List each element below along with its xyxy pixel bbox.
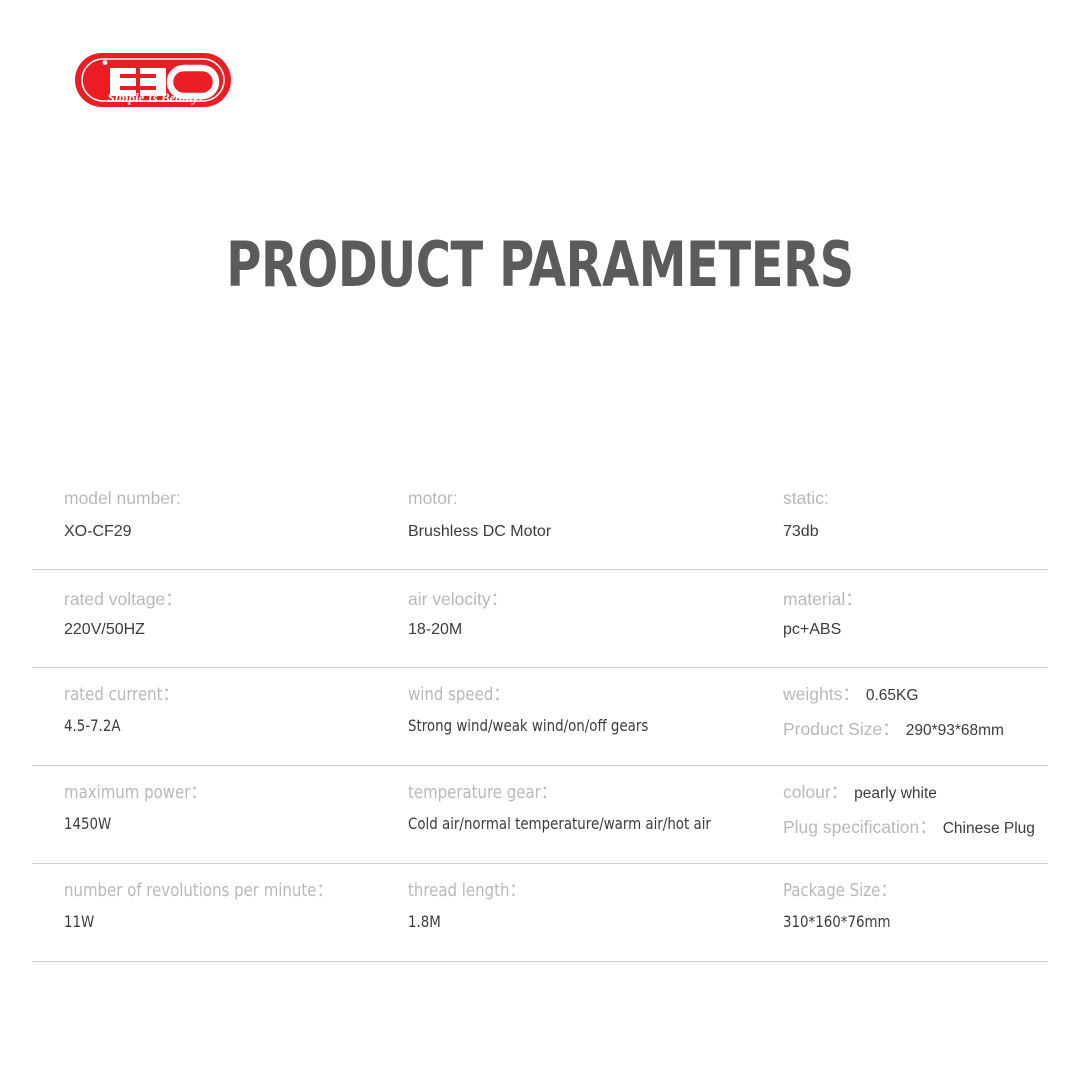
spec-pair-colour: colour：pearly white	[783, 779, 937, 804]
table-row: model number: XO-CF29 motor: Brushless D…	[32, 472, 1048, 570]
table-row: rated current： 4.5-7.2A wind speed： Stro…	[32, 668, 1048, 766]
spec-value: XO-CF29	[64, 523, 132, 541]
spec-cell-rated-current: rated current： 4.5-7.2A	[64, 668, 408, 766]
product-parameters-table: model number: XO-CF29 motor: Brushless D…	[32, 472, 1048, 962]
spec-value: 220V/50HZ	[64, 621, 145, 639]
spec-value: 290*93*68mm	[906, 722, 1004, 739]
spec-label: material：	[783, 586, 863, 611]
spec-cell-model-number: model number: XO-CF29	[64, 472, 408, 570]
spec-cell-colour-plug-specification: colour：pearly white Plug specification：C…	[783, 766, 1048, 864]
spec-label: Package Size：	[783, 877, 897, 902]
spec-cell-rated-voltage: rated voltage： 220V/50HZ	[64, 570, 408, 668]
brand-logo: Simple Is Beauty	[74, 52, 232, 108]
spec-cell-package-size: Package Size： 310*160*76mm	[783, 864, 1048, 962]
page-title: PRODUCT PARAMETERS	[76, 228, 1005, 301]
spec-cell-temperature-gear: temperature gear： Cold air/normal temper…	[408, 766, 783, 864]
spec-value: Cold air/normal temperature/warm air/hot…	[408, 814, 711, 833]
spec-label: Product Size：	[783, 719, 900, 739]
spec-label: motor:	[408, 488, 458, 509]
spec-label: model number:	[64, 488, 181, 509]
spec-value: Brushless DC Motor	[408, 523, 551, 541]
spec-value: 310*160*76mm	[783, 912, 891, 931]
spec-label: temperature gear：	[408, 779, 557, 804]
spec-pair-weights: weights：0.65KG	[783, 681, 918, 706]
spec-cell-wind-speed: wind speed： Strong wind/weak wind/on/off…	[408, 668, 783, 766]
spec-value: pearly white	[854, 785, 937, 802]
spec-label: weights：	[783, 684, 860, 704]
spec-cell-material: material： pc+ABS	[783, 570, 1048, 668]
spec-value: 0.65KG	[866, 687, 919, 704]
spec-label: rated voltage：	[64, 586, 183, 611]
spec-label: number of revolutions per minute：	[64, 877, 333, 902]
spec-label: static:	[783, 488, 829, 509]
spec-cell-air-velocity: air velocity： 18-20M	[408, 570, 783, 668]
spec-value: 1.8M	[408, 912, 441, 931]
spec-cell-revolutions-per-minute: number of revolutions per minute： 11W	[64, 864, 408, 962]
xo-logo-icon: Simple Is Beauty	[74, 52, 232, 108]
spec-label: thread length：	[408, 877, 526, 902]
spec-pair-product-size: Product Size：290*93*68mm	[783, 716, 1004, 741]
spec-label: colour：	[783, 782, 848, 802]
spec-value: 18-20M	[408, 621, 462, 639]
spec-value: 1450W	[64, 814, 111, 833]
spec-value: 73db	[783, 523, 819, 541]
spec-pair-plug-specification: Plug specification：Chinese Plug	[783, 814, 1035, 839]
logo-tagline: Simple Is Beauty	[107, 90, 198, 105]
spec-cell-weights-product-size: weights：0.65KG Product Size：290*93*68mm	[783, 668, 1048, 766]
spec-label: rated current：	[64, 681, 179, 706]
spec-value: Strong wind/weak wind/on/off gears	[408, 716, 648, 735]
spec-value: Chinese Plug	[943, 820, 1035, 837]
spec-cell-maximum-power: maximum power： 1450W	[64, 766, 408, 864]
spec-value: 11W	[64, 912, 94, 931]
spec-value: 4.5-7.2A	[64, 716, 121, 735]
table-row: maximum power： 1450W temperature gear： C…	[32, 766, 1048, 864]
spec-cell-static: static: 73db	[783, 472, 1048, 570]
spec-label: maximum power：	[64, 779, 207, 804]
spec-label: Plug specification：	[783, 817, 937, 837]
spec-value: pc+ABS	[783, 621, 841, 639]
table-row: number of revolutions per minute： 11W th…	[32, 864, 1048, 962]
spec-label: air velocity：	[408, 586, 508, 611]
spec-cell-motor: motor: Brushless DC Motor	[408, 472, 783, 570]
spec-cell-thread-length: thread length： 1.8M	[408, 864, 783, 962]
table-row: rated voltage： 220V/50HZ air velocity： 1…	[32, 570, 1048, 668]
spec-label: wind speed：	[408, 681, 510, 706]
